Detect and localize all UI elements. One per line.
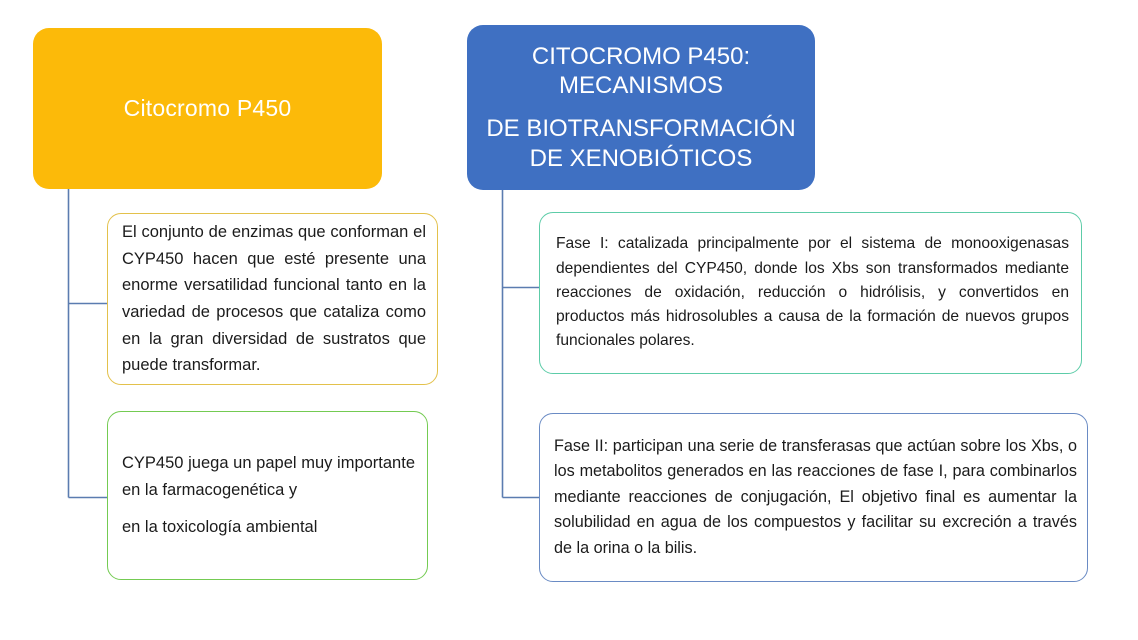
header-box-citocromo-p450[interactable]: Citocromo P450: [33, 28, 382, 189]
content-box-fase-i[interactable]: Fase I: catalizada principalmente por el…: [539, 212, 1082, 374]
content-paragraph: CYP450 juega un papel muy importante en …: [122, 450, 415, 503]
content-paragraph: El conjunto de enzimas que conforman el …: [122, 219, 426, 379]
content-box-fase-ii[interactable]: Fase II: participan una serie de transfe…: [539, 413, 1088, 582]
content-paragraph: Fase II: participan una serie de transfe…: [554, 434, 1077, 562]
content-box-fase-i-body: Fase I: catalizada principalmente por el…: [556, 232, 1069, 354]
diagram-canvas: Citocromo P450 CITOCROMO P450: MECANISMO…: [0, 0, 1138, 640]
header-right-title-line1: CITOCROMO P450: MECANISMOS: [477, 42, 805, 102]
content-box-farmacogenetica-body: CYP450 juega un papel muy importante en …: [122, 450, 415, 541]
content-paragraph: Fase I: catalizada principalmente por el…: [556, 232, 1069, 354]
header-box-mecanismos[interactable]: CITOCROMO P450: MECANISMOS DE BIOTRANSFO…: [467, 25, 815, 190]
content-paragraph: en la toxicología ambiental: [122, 514, 415, 541]
content-box-fase-ii-body: Fase II: participan una serie de transfe…: [554, 434, 1077, 562]
content-box-enzimas[interactable]: El conjunto de enzimas que conforman el …: [107, 213, 438, 385]
header-right-title-line2: DE BIOTRANSFORMACIÓN DE XENOBIÓTICOS: [477, 114, 805, 174]
header-left-title: Citocromo P450: [124, 95, 292, 122]
content-box-farmacogenetica[interactable]: CYP450 juega un papel muy importante en …: [107, 411, 428, 580]
content-box-enzimas-body: El conjunto de enzimas que conforman el …: [122, 219, 426, 379]
